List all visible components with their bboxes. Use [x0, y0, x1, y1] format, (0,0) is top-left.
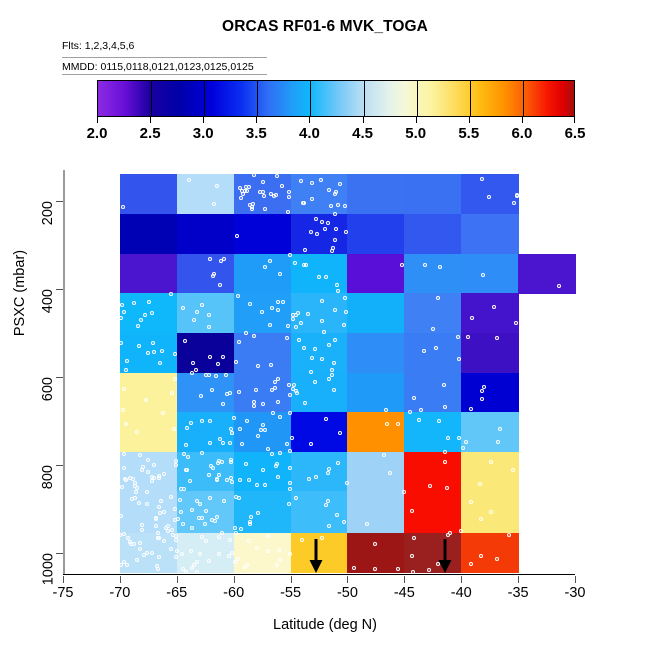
heatmap-cell	[461, 533, 518, 573]
y-tick-label: 200	[40, 201, 56, 225]
colorbar-tick-label: 4.0	[299, 125, 320, 142]
heatmap-cell	[461, 214, 518, 254]
heatmap-cell	[177, 254, 234, 294]
colorbar-tick-label: 3.5	[246, 125, 267, 142]
heatmap-cell	[347, 533, 404, 573]
colorbar-tick	[309, 117, 310, 123]
x-tick	[461, 576, 462, 583]
colorbar-tick-label: 3.0	[193, 125, 214, 142]
colorbar-separator	[310, 81, 311, 116]
colorbar-tick-label: 5.0	[405, 125, 426, 142]
heatmap-cell	[234, 533, 291, 573]
colorbar-gradient	[97, 80, 575, 117]
heatmap-cell	[291, 491, 348, 533]
heatmap-cell	[291, 452, 348, 492]
y-tick	[56, 201, 63, 202]
heatmap-cell	[404, 373, 461, 413]
heatmap-cell	[234, 293, 291, 333]
heatmap-cells	[63, 170, 575, 575]
heatmap-cell	[291, 293, 348, 333]
heatmap-cell	[120, 373, 177, 413]
heatmap-cell	[404, 214, 461, 254]
heatmap-cell	[120, 533, 177, 573]
heatmap-cell	[120, 333, 177, 373]
x-axis-line	[63, 574, 575, 576]
heatmap-cell	[404, 293, 461, 333]
heatmap-cell	[291, 373, 348, 413]
heatmap-cell	[291, 174, 348, 214]
heatmap-cell	[120, 174, 177, 214]
x-tick-label: -45	[394, 585, 415, 601]
heatmap-cell	[177, 214, 234, 254]
heatmap-cell	[347, 214, 404, 254]
heatmap-cell	[177, 174, 234, 214]
y-tick	[56, 465, 63, 466]
colorbar-tick-label: 6.5	[565, 125, 586, 142]
heatmap-cell	[347, 293, 404, 333]
mmdd-label: MMDD: 0115,0118,0121,0123,0125,0125	[62, 61, 254, 73]
heatmap-cell	[461, 293, 518, 333]
heatmap-cell	[120, 491, 177, 533]
heatmap-cell	[120, 214, 177, 254]
heatmap-cell	[177, 373, 234, 413]
heatmap-cell	[177, 491, 234, 533]
x-tick	[291, 576, 292, 583]
x-tick-label: -35	[508, 585, 529, 601]
x-tick	[404, 576, 405, 583]
divider-bottom	[62, 74, 267, 75]
x-tick-label: -55	[280, 585, 301, 601]
heatmap-cell	[120, 452, 177, 492]
x-tick-label: -65	[166, 585, 187, 601]
heatmap-cell	[347, 174, 404, 214]
colorbar-tick	[416, 117, 417, 123]
flights-label: Flts: 1,2,3,4,5,6	[62, 40, 134, 52]
heatmap-cell	[234, 491, 291, 533]
colorbar-tick-label: 2.0	[87, 125, 108, 142]
colorbar-tick	[256, 117, 257, 123]
x-tick	[347, 576, 348, 583]
heatmap-cell	[461, 452, 518, 492]
heatmap-cell	[177, 533, 234, 573]
x-axis-tick-labels: -75-70-65-60-55-50-45-40-35-30	[63, 585, 575, 605]
x-tick	[177, 576, 178, 583]
x-tick	[120, 576, 121, 583]
divider-top	[62, 57, 267, 58]
colorbar-separator	[151, 81, 152, 116]
heatmap-cell	[404, 174, 461, 214]
colorbar-tick-label: 5.5	[458, 125, 479, 142]
heatmap-cell	[404, 491, 461, 533]
y-tick	[56, 289, 63, 290]
colorbar-separator	[470, 81, 471, 116]
heatmap-cell	[177, 293, 234, 333]
y-axis-title: PSXC (mbar)	[12, 183, 28, 403]
colorbar-separator	[257, 81, 258, 116]
x-axis-ticks	[63, 576, 575, 584]
x-tick-label: -70	[109, 585, 130, 601]
heatmap-cell	[120, 254, 177, 294]
y-tick	[56, 377, 63, 378]
colorbar-separator	[364, 81, 365, 116]
colorbar-tick	[150, 117, 151, 123]
heatmap-cell	[177, 333, 234, 373]
heatmap-cell	[291, 333, 348, 373]
heatmap-cell	[461, 412, 518, 452]
colorbar-tick	[522, 117, 523, 123]
colorbar-ticks	[97, 117, 575, 124]
x-tick-label: -30	[565, 585, 586, 601]
heatmap-cell	[404, 412, 461, 452]
heatmap-cell	[347, 333, 404, 373]
page-title: ORCAS RF01-6 MVK_TOGA	[0, 18, 650, 36]
heatmap-cell	[518, 254, 575, 294]
heatmap-cell	[234, 412, 291, 452]
heatmap-cell	[461, 373, 518, 413]
y-tick-label: 400	[40, 289, 56, 313]
colorbar-tick	[97, 117, 98, 123]
x-tick	[518, 576, 519, 583]
colorbar-separator	[417, 81, 418, 116]
heatmap-cell	[347, 254, 404, 294]
y-axis-ticks	[56, 170, 64, 575]
x-tick	[234, 576, 235, 583]
heatmap-cell	[291, 214, 348, 254]
heatmap-cell	[234, 373, 291, 413]
x-tick	[63, 576, 64, 583]
heatmap-cell	[404, 333, 461, 373]
colorbar-tick	[203, 117, 204, 123]
down-arrow-icon	[437, 539, 453, 573]
heatmap-cell	[404, 254, 461, 294]
x-tick-label: -75	[53, 585, 74, 601]
heatmap-cell	[347, 373, 404, 413]
y-tick-label: 800	[40, 465, 56, 489]
y-tick-label: 600	[40, 377, 56, 401]
colorbar-separator	[204, 81, 205, 116]
x-axis-title: Latitude (deg N)	[0, 617, 650, 633]
heatmap-plot	[63, 170, 575, 575]
heatmap-cell	[120, 293, 177, 333]
x-tick-label: -60	[223, 585, 244, 601]
heatmap-cell	[234, 333, 291, 373]
colorbar	[97, 80, 575, 117]
x-tick-label: -40	[451, 585, 472, 601]
heatmap-cell	[461, 491, 518, 533]
heatmap-cell	[347, 452, 404, 492]
heatmap-cell	[291, 254, 348, 294]
colorbar-separator	[523, 81, 524, 116]
colorbar-tick	[469, 117, 470, 123]
y-tick-label: 1000	[40, 553, 56, 585]
x-tick	[575, 576, 576, 583]
colorbar-tick	[363, 117, 364, 123]
down-arrow-icon	[308, 539, 324, 573]
heatmap-cell	[234, 452, 291, 492]
x-tick-label: -50	[337, 585, 358, 601]
heatmap-cell	[234, 174, 291, 214]
colorbar-tick-label: 2.5	[140, 125, 161, 142]
heatmap-cell	[234, 214, 291, 254]
y-tick	[56, 553, 63, 554]
colorbar-tick-label: 4.5	[352, 125, 373, 142]
heatmap-cell	[177, 412, 234, 452]
heatmap-cell	[234, 254, 291, 294]
colorbar-tick-label: 6.0	[511, 125, 532, 142]
heatmap-cell	[291, 412, 348, 452]
heatmap-cell	[347, 491, 404, 533]
colorbar-tick-labels: 2.02.53.03.54.04.55.05.56.06.5	[97, 125, 575, 147]
heatmap-cell	[347, 412, 404, 452]
heatmap-cell	[461, 174, 518, 214]
colorbar-separators	[98, 81, 574, 116]
heatmap-cell	[177, 452, 234, 492]
colorbar-tick	[574, 117, 575, 123]
heatmap-cell	[461, 254, 518, 294]
heatmap-cell	[404, 452, 461, 492]
heatmap-cell	[120, 412, 177, 452]
heatmap-cell	[461, 333, 518, 373]
